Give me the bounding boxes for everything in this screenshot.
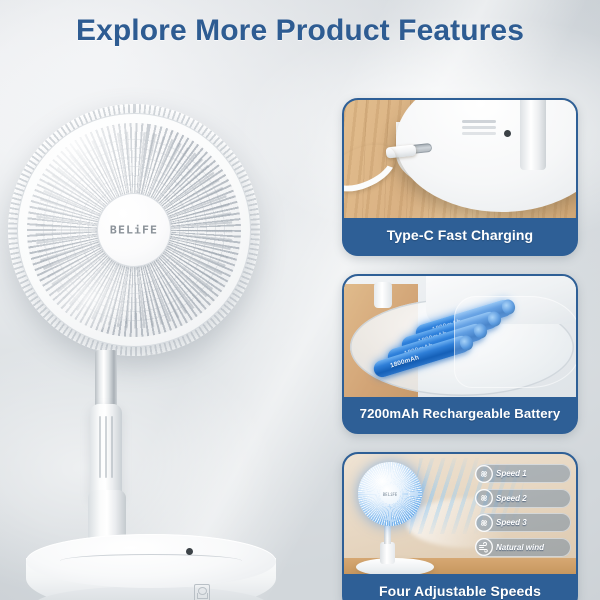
hero-product-image: BELiFE: [0, 82, 330, 600]
speed-badge-1[interactable]: Speed 1: [475, 464, 571, 483]
mini-fan-stem: [380, 542, 395, 564]
page-title: Explore More Product Features: [0, 14, 600, 48]
card-photo-battery-compartment: 1800mAh 1800mAh 1800mAh 1800mAh: [344, 276, 576, 397]
speed-badge-2[interactable]: Speed 2: [475, 489, 571, 508]
collar-slit: [111, 416, 113, 478]
speed-badge-label: Speed 1: [496, 469, 527, 478]
card-photo-type-c-charging: [344, 100, 576, 218]
fan-blades-icon: [475, 489, 493, 507]
base-vent-slots: [462, 120, 496, 123]
card-caption: Four Adjustable Speeds: [344, 574, 576, 600]
housing-post: [374, 282, 392, 308]
feature-card-type-c-fast-charging[interactable]: Type-C Fast Charging: [342, 98, 578, 256]
fan-head: BELiFE: [8, 104, 260, 356]
fan-base: [26, 534, 276, 600]
feature-card-four-adjustable-speeds[interactable]: BELiFE Speed 1: [342, 452, 578, 600]
recycle-battery-icon: [194, 584, 210, 600]
pole-collar: [90, 404, 122, 500]
brand-logo: BELiFE: [110, 224, 158, 237]
card-caption: Type-C Fast Charging: [344, 218, 576, 254]
power-button[interactable]: [186, 548, 193, 555]
feature-card-rechargeable-battery[interactable]: 1800mAh 1800mAh 1800mAh 1800mAh 7200mAh …: [342, 274, 578, 434]
fan-hub: BELiFE: [97, 193, 171, 267]
mini-fan-head: BELiFE: [358, 462, 422, 526]
battery-capacity-label: 1800mAh: [389, 354, 420, 369]
mini-fan-base: [356, 558, 434, 574]
feature-card-list: Type-C Fast Charging 1800mAh 1800mAh 180…: [342, 98, 578, 600]
power-button: [504, 130, 511, 137]
card-caption: 7200mAh Rechargeable Battery: [344, 397, 576, 432]
mini-fan-hub: BELiFE: [380, 484, 400, 504]
collar-slit: [99, 416, 101, 478]
fan-blades-icon: [475, 465, 493, 483]
telescopic-pole-chrome: [95, 350, 117, 410]
card-photo-fan-speeds: BELiFE Speed 1: [344, 454, 576, 574]
base-seam: [60, 554, 242, 568]
speed-badge-list: Speed 1 Speed 2: [475, 464, 571, 562]
natural-wind-label: Natural wind: [496, 543, 544, 552]
breeze-wind-icon: [475, 538, 493, 556]
fan-blades-icon: [475, 514, 493, 532]
folded-pole: [520, 100, 546, 170]
base-top: [26, 534, 276, 588]
speed-badge-3[interactable]: Speed 3: [475, 513, 571, 532]
speed-badge-label: Speed 3: [496, 518, 527, 527]
speed-badge-label: Speed 2: [496, 494, 527, 503]
translucent-cover: [454, 296, 576, 388]
collar-slit: [105, 416, 107, 478]
natural-wind-badge[interactable]: Natural wind: [475, 538, 571, 557]
